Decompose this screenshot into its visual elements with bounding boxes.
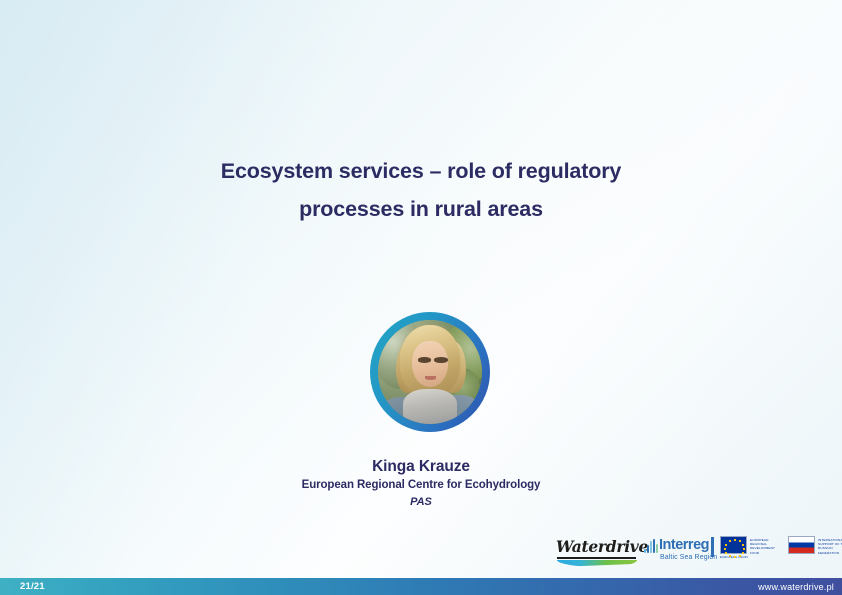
waterdrive-swoosh-icon xyxy=(557,560,637,567)
eu-fund-text: EUROPEAN REGIONAL DEVELOPMENT FUND xyxy=(750,536,780,555)
photo-scarf xyxy=(403,389,457,424)
ru-line-4: FEDERATION xyxy=(818,551,842,555)
russian-support-text: INTERNATIONAL SUPPORT OF THE RUSSIAN FED… xyxy=(818,536,842,555)
photo-eye-left xyxy=(418,357,432,362)
russian-flag-icon xyxy=(788,536,815,554)
logo-bar: Waterdrive Interreg Baltic Sea Region xyxy=(556,533,838,571)
eu-flag-block: EUROPEAN UNION xyxy=(720,536,747,559)
presentation-slide: Ecosystem services – role of regulatory … xyxy=(0,0,842,595)
photo-mouth xyxy=(425,376,436,380)
european-union-logo: EUROPEAN UNION EUROPEAN REGIONAL DEVELOP… xyxy=(720,536,782,568)
portrait-photo xyxy=(378,320,482,424)
title-line-1: Ecosystem services – role of regulatory xyxy=(0,152,842,190)
waterdrive-logo: Waterdrive xyxy=(556,536,638,568)
russian-federation-logo: INTERNATIONAL SUPPORT OF THE RUSSIAN FED… xyxy=(788,536,842,568)
slide-title: Ecosystem services – role of regulatory … xyxy=(0,152,842,228)
footer-url[interactable]: www.waterdrive.pl xyxy=(758,582,842,592)
eu-fund-line-4: FUND xyxy=(750,551,780,555)
presenter-block: Kinga Krauze European Regional Centre fo… xyxy=(0,456,842,510)
interreg-logo: Interreg Baltic Sea Region xyxy=(644,536,714,568)
slide-footer: 21/21 www.waterdrive.pl xyxy=(0,578,842,595)
interreg-wordmark: Interreg xyxy=(659,537,709,553)
photo-eye-right xyxy=(434,357,448,362)
waterdrive-underline xyxy=(557,557,636,559)
presenter-organisation: European Regional Centre for Ecohydrolog… xyxy=(0,477,842,494)
presenter-sub-organisation: PAS xyxy=(0,494,842,510)
title-line-2: processes in rural areas xyxy=(0,190,842,228)
interreg-subtitle: Baltic Sea Region xyxy=(660,553,717,562)
waterdrive-wordmark: Waterdrive xyxy=(556,538,638,556)
avatar xyxy=(370,312,490,432)
page-number: 21/21 xyxy=(0,581,45,592)
interreg-bar-icon xyxy=(711,537,714,557)
presenter-name: Kinga Krauze xyxy=(0,456,842,477)
eu-flag-icon xyxy=(720,536,747,554)
